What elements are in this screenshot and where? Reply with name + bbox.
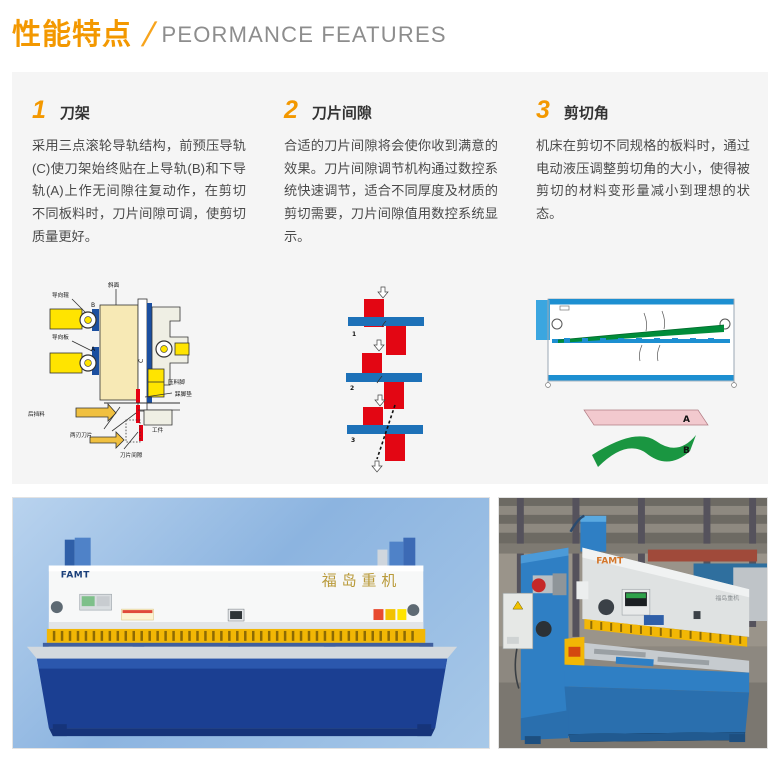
feature-number: 1 <box>32 98 46 123</box>
shear-angle-schematic: A B <box>516 277 768 477</box>
features-columns: 1 刀架 采用三点滚轮导轨结构，前预压导轨(C)使刀架始终贴在上导轨(B)和下导… <box>12 72 768 249</box>
feature-column-1: 1 刀架 采用三点滚轮导轨结构，前预压导轨(C)使刀架始终贴在上导轨(B)和下导… <box>12 98 264 249</box>
page-title-cn: 性能特点 <box>12 21 132 50</box>
diagram-shear-angle: A B <box>516 277 768 477</box>
diagram-label: 压料脚 <box>168 378 185 386</box>
feature-title: 剪切角 <box>564 106 609 121</box>
diagram-label: 斜面 <box>108 281 120 289</box>
diagram-label: 后挡料 <box>28 410 45 418</box>
diagram-label: 踩脚垫 <box>175 390 192 398</box>
factory-machine-illustration: FAMT 福岛重机 <box>499 498 767 748</box>
feature-number: 2 <box>284 98 298 123</box>
feature-title: 刀片间隙 <box>312 106 372 121</box>
studio-machine-illustration: FAMT 福岛重机 <box>13 498 489 748</box>
diagram-blade-holder: 导向辊 B 导向板 A 斜面 C 压料脚 踩脚垫 后挡料 两刃刀片 工件 刀片间… <box>12 277 264 477</box>
page-header: 性能特点 / PEORMANCE FEATURES <box>0 0 780 70</box>
machine-studio-photo: FAMT 福岛重机 <box>12 497 490 749</box>
brand-latin: FAMT <box>596 556 624 566</box>
brand-cn: 福岛重机 <box>322 571 402 589</box>
blade-holder-schematic: 导向辊 B 导向板 A 斜面 C 压料脚 踩脚垫 后挡料 两刃刀片 工件 刀片间… <box>12 277 264 477</box>
page-title-en: PEORMANCE FEATURES <box>161 24 446 46</box>
diagram-label: A <box>683 415 690 425</box>
feature-description: 合适的刀片间隙将会使你收到满意的效果。刀片间隙调节机构通过数控系统快速调节，适合… <box>284 135 498 249</box>
diagram-label: 刀片间隙 <box>120 451 143 459</box>
stage-number: 3 <box>351 437 355 444</box>
feature-number: 3 <box>536 98 550 123</box>
feature-column-3: 3 剪切角 机床在剪切不同规格的板料时，通过电动液压调整剪切角的大小，使得被剪切… <box>516 98 768 249</box>
feature-description: 机床在剪切不同规格的板料时，通过电动液压调整剪切角的大小，使得被剪切的材料变形量… <box>536 135 750 226</box>
feature-column-2: 2 刀片间隙 合适的刀片间隙将会使你收到满意的效果。刀片间隙调节机构通过数控系统… <box>264 98 516 249</box>
diagram-label: 导向板 <box>52 333 69 341</box>
diagram-label: 导向辊 <box>52 291 69 299</box>
feature-heading: 1 刀架 <box>32 98 246 123</box>
diagram-label: B <box>91 302 95 309</box>
diagram-label: 工件 <box>152 426 164 434</box>
feature-title: 刀架 <box>60 106 90 121</box>
machine-factory-photo: FAMT 福岛重机 <box>498 497 768 749</box>
diagram-label: C <box>138 359 145 363</box>
brand-latin: FAMT <box>61 570 90 580</box>
diagrams-row: 导向辊 B 导向板 A 斜面 C 压料脚 踩脚垫 后挡料 两刃刀片 工件 刀片间… <box>12 277 768 477</box>
features-panel: 1 刀架 采用三点滚轮导轨结构，前预压导轨(C)使刀架始终贴在上导轨(B)和下导… <box>12 72 768 484</box>
stage-number: 2 <box>350 385 354 392</box>
feature-heading: 2 刀片间隙 <box>284 98 498 123</box>
diagram-label: 两刃刀片 <box>70 431 93 439</box>
diagram-label: B <box>683 446 690 456</box>
stage-number: 1 <box>352 331 356 338</box>
blade-gap-stages: 1 2 3 <box>264 277 516 477</box>
feature-heading: 3 剪切角 <box>536 98 750 123</box>
diagram-blade-gap: 1 2 3 <box>264 277 516 477</box>
slash-divider-icon: / <box>139 18 158 52</box>
brand-cn-small: 福岛重机 <box>715 594 739 602</box>
feature-description: 采用三点滚轮导轨结构，前预压导轨(C)使刀架始终贴在上导轨(B)和下导轨(A)上… <box>32 135 246 249</box>
product-photos: FAMT 福岛重机 <box>12 497 768 749</box>
